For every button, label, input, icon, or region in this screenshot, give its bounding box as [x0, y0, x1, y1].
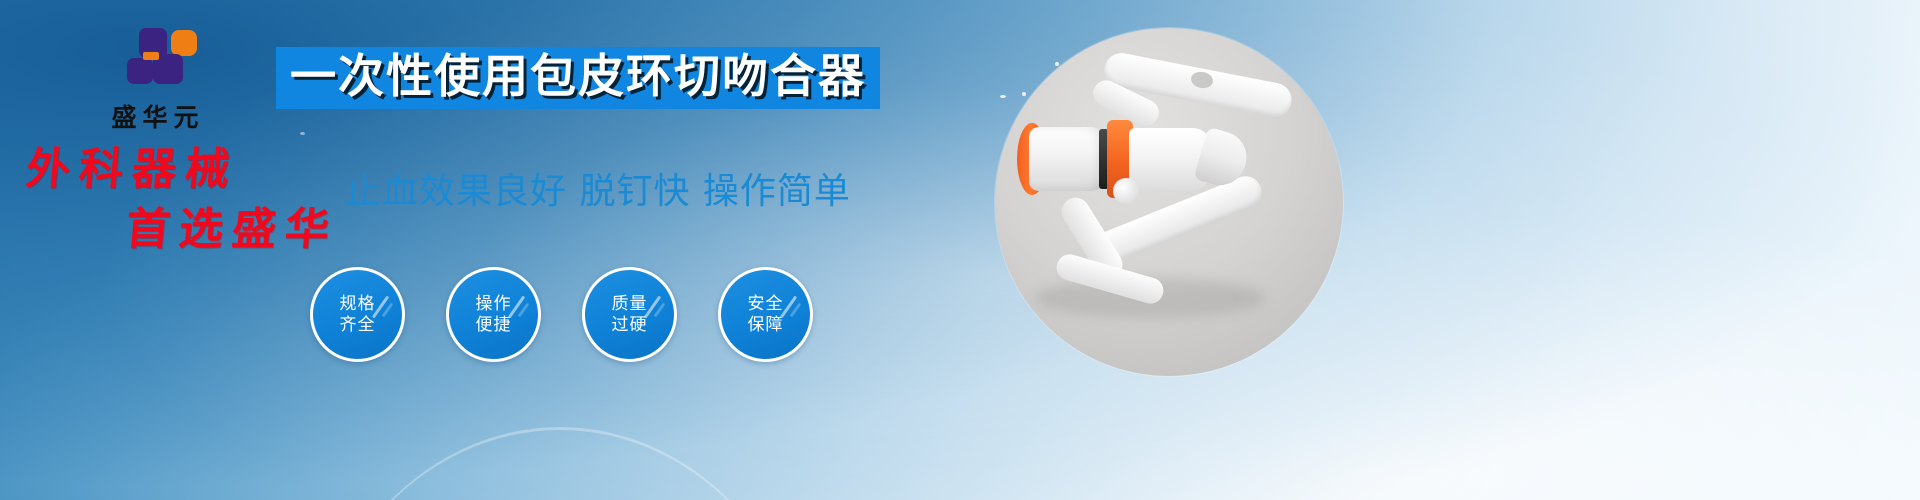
brand-logo-icon: [119, 28, 191, 90]
sparkle-icon: [1000, 95, 1006, 98]
slogan-line-1: 外科器械: [24, 148, 350, 192]
decorative-arc: [300, 427, 820, 500]
logo-block-orange: [171, 30, 197, 56]
feature-badge-line-2: 保障: [748, 315, 784, 336]
feature-badge-line-1: 操作: [476, 294, 512, 315]
feature-badge-quality[interactable]: 质量 过硬: [582, 267, 677, 362]
product-photo[interactable]: [995, 28, 1343, 376]
feature-badge-specs[interactable]: 规格 齐全: [310, 267, 405, 362]
promo-banner: 盛华元 一次性使用包皮环切吻合器 外科器械 首选盛华 止血效果良好 脱钉快 操作…: [0, 0, 1920, 500]
feature-badge-line-1: 质量: [612, 294, 648, 315]
logo-accent-bar: [143, 52, 159, 60]
brush-slogan: 外科器械 首选盛华: [18, 148, 348, 252]
feature-badge-line-1: 安全: [748, 294, 784, 315]
stapler-anvil-cap: [1029, 127, 1105, 191]
feature-badge-list: 规格 齐全 操作 便捷 质量 过硬 安全 保障: [310, 267, 813, 362]
headline-ribbon: 一次性使用包皮环切吻合器: [276, 47, 880, 109]
sparkle-icon: [1022, 92, 1026, 96]
feature-badge-line-2: 齐全: [340, 315, 376, 336]
feature-badge-line-1: 规格: [340, 294, 376, 315]
brand-name: 盛华元: [75, 98, 235, 134]
brand-logo[interactable]: 盛华元: [75, 28, 235, 134]
feature-badge-operation[interactable]: 操作 便捷: [446, 267, 541, 362]
slogan-line-2: 首选盛华: [124, 208, 350, 252]
feature-badge-line-2: 便捷: [476, 315, 512, 336]
subtitle: 止血效果良好 脱钉快 操作简单: [345, 162, 851, 214]
feature-badge-line-2: 过硬: [612, 315, 648, 336]
logo-block-bottom-left: [127, 58, 153, 84]
stapler-pivot: [1113, 178, 1139, 204]
sparkle-icon: [1055, 62, 1059, 66]
feature-badge-safety[interactable]: 安全 保障: [718, 267, 813, 362]
headline-title: 一次性使用包皮环切吻合器: [290, 53, 866, 99]
sparkle-icon: [300, 132, 305, 135]
